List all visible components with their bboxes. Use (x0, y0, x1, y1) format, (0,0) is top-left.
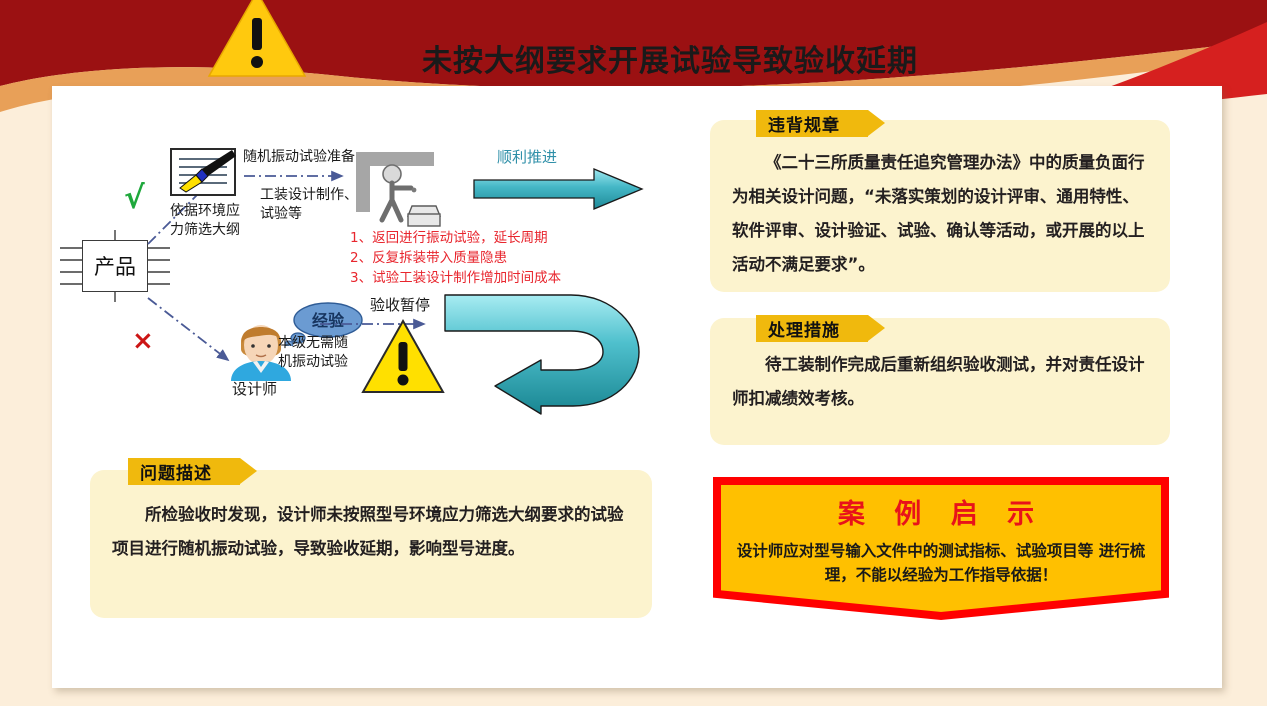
ribbon-measure-label: 处理措施 (768, 316, 840, 341)
product-box: 产品 (82, 240, 148, 292)
diagram-label-pause: 验收暂停 (370, 296, 430, 315)
panel-rule-body: 《二十三所质量责任追究管理办法》中的质量负面行为相关设计问题，“未落实策划的设计… (710, 120, 1170, 282)
inspiration-title: 案 例 启 示 (712, 492, 1170, 531)
diagram-consequences: 1、返回进行振动试验，延长周期 2、反复拆装带入质量隐患 3、试验工装设计制作增… (350, 228, 561, 288)
ribbon-measure: 处理措施 (756, 315, 868, 342)
diagram-label-basis: 依据环境应 力筛选大纲 (170, 202, 240, 240)
check-mark: √ (124, 180, 145, 216)
cross-mark: × (132, 326, 154, 356)
ribbon-problem: 问题描述 (128, 458, 240, 485)
success-arrow-icon (470, 168, 650, 214)
diagram-label-fixture: 工装设计制作、 试验等 (260, 186, 358, 224)
slide-root: 未按大纲要求开展试验导致验收延期 产品 (0, 0, 1267, 706)
ribbon-rule-label: 违背规章 (768, 111, 840, 136)
ribbon-problem-label: 问题描述 (140, 459, 212, 484)
panel-inspiration: 案 例 启 示 设计师应对型号输入文件中的测试指标、试验项目等 进行梳理，不能以… (712, 476, 1170, 621)
u-turn-arrow-icon (443, 290, 648, 415)
arrow-right-dashdot-top (242, 168, 352, 184)
panel-problem: 所检验收时发现，设计师未按照型号环境应力筛选大纲要求的试验项目进行随机振动试验，… (90, 470, 652, 618)
warning-triangle-icon-pause (360, 318, 446, 396)
process-diagram: 产品 √ × (60, 130, 700, 430)
diagram-label-smooth: 顺利推进 (497, 146, 557, 167)
page-title: 未按大纲要求开展试验导致验收延期 (290, 36, 1050, 80)
document-pen-icon (170, 148, 236, 196)
inspiration-subtitle: 设计师应对型号输入文件中的测试指标、试验项目等 进行梳理，不能以经验为工作指导依… (712, 539, 1170, 587)
diagram-label-prep: 随机振动试验准备 (243, 148, 355, 167)
ribbon-rule: 违背规章 (756, 110, 868, 137)
person-spraying-icon (356, 152, 456, 228)
designer-label: 设计师 (232, 380, 277, 399)
panel-rule: 《二十三所质量责任追究管理办法》中的质量负面行为相关设计问题，“未落实策划的设计… (710, 120, 1170, 292)
diagram-label-no-need: 本级无需随 机振动试验 (278, 334, 348, 372)
